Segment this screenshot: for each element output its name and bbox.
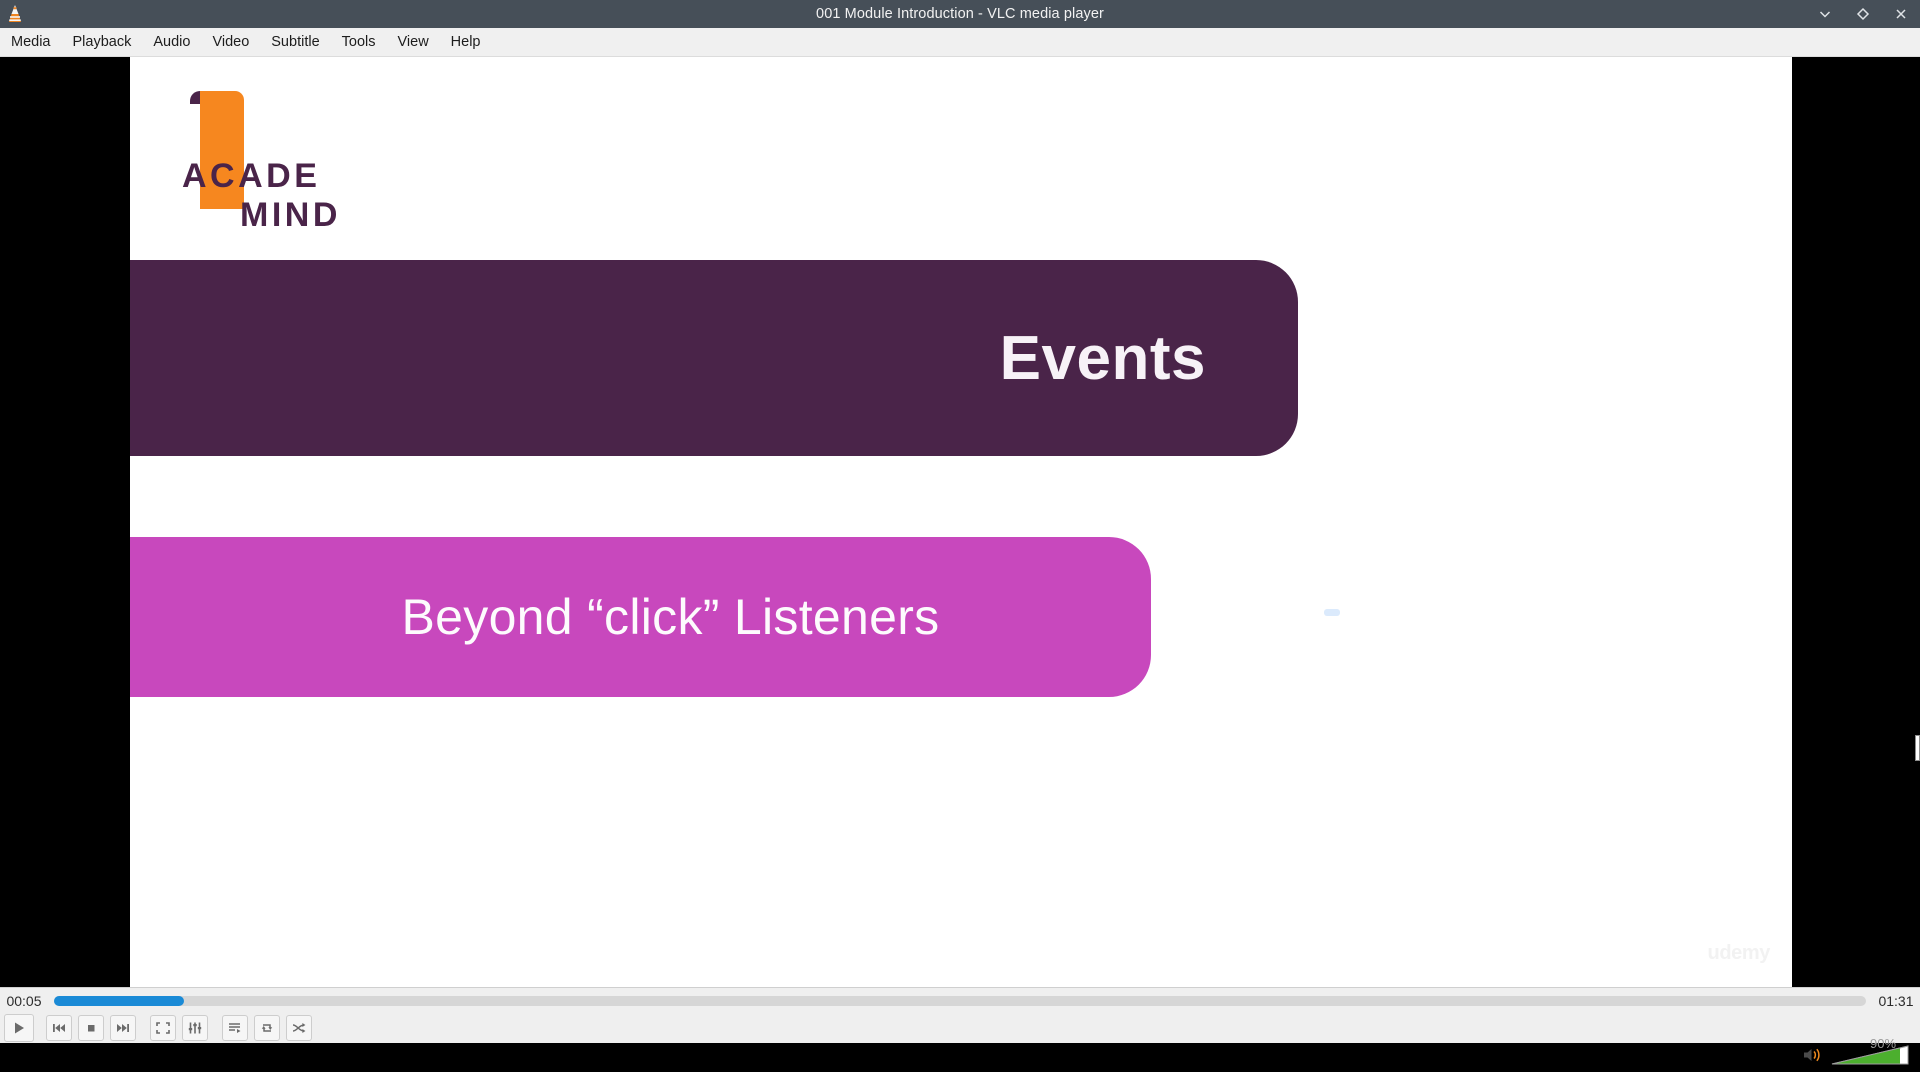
volume-speaker-icon[interactable]: [1802, 1045, 1824, 1065]
events-banner-text: Events: [1000, 323, 1206, 394]
minimize-button[interactable]: [1814, 3, 1836, 25]
volume-control: 90%: [1802, 1040, 1912, 1070]
maximize-button[interactable]: [1852, 3, 1874, 25]
volume-percent-label: 90%: [1870, 1036, 1896, 1051]
menu-item-help[interactable]: Help: [440, 30, 492, 54]
fullscreen-button[interactable]: [150, 1015, 176, 1041]
logo-text-line1: ACADE: [182, 159, 320, 193]
menu-item-subtitle[interactable]: Subtitle: [260, 30, 330, 54]
close-button[interactable]: [1890, 3, 1912, 25]
video-surface[interactable]: ACADE MIND Events Beyond “click” Listene…: [0, 57, 1920, 987]
menu-bar: Media Playback Audio Video Subtitle Tool…: [0, 28, 1920, 57]
cursor-artifact: [1324, 609, 1340, 616]
random-button[interactable]: [286, 1015, 312, 1041]
play-button[interactable]: [4, 1014, 34, 1042]
volume-slider[interactable]: 90%: [1830, 1043, 1910, 1067]
transport-buttons: 90%: [0, 1014, 1920, 1044]
listeners-banner-text: Beyond “click” Listeners: [342, 588, 940, 646]
seek-slider[interactable]: [54, 996, 1866, 1006]
previous-button[interactable]: [46, 1015, 72, 1041]
udemy-watermark: udemy: [1708, 942, 1770, 965]
menu-item-video[interactable]: Video: [201, 30, 260, 54]
extended-settings-button[interactable]: [182, 1015, 208, 1041]
logo-text-line2: MIND: [240, 198, 341, 232]
menu-item-tools[interactable]: Tools: [331, 30, 387, 54]
window-title: 001 Module Introduction - VLC media play…: [0, 6, 1920, 22]
events-banner: Events: [130, 260, 1298, 456]
window-controls: [1814, 0, 1912, 28]
next-button[interactable]: [110, 1015, 136, 1041]
academind-logo: ACADE MIND: [178, 85, 358, 215]
edge-caret-artifact: [1915, 735, 1920, 761]
total-time: 01:31: [1872, 993, 1920, 1009]
listeners-banner: Beyond “click” Listeners: [130, 537, 1151, 697]
loop-button[interactable]: [254, 1015, 280, 1041]
title-bar: 001 Module Introduction - VLC media play…: [0, 0, 1920, 28]
control-bar: 00:05 01:31: [0, 987, 1920, 1043]
seek-row: 00:05 01:31: [0, 988, 1920, 1014]
menu-item-audio[interactable]: Audio: [142, 30, 201, 54]
vlc-cone-icon: [4, 3, 26, 25]
menu-item-playback[interactable]: Playback: [62, 30, 143, 54]
slide-content: ACADE MIND Events Beyond “click” Listene…: [130, 57, 1792, 987]
seek-slider-fill: [54, 996, 184, 1006]
menu-item-media[interactable]: Media: [0, 30, 62, 54]
menu-item-view[interactable]: View: [387, 30, 440, 54]
stop-button[interactable]: [78, 1015, 104, 1041]
elapsed-time: 00:05: [0, 993, 48, 1009]
playlist-button[interactable]: [222, 1015, 248, 1041]
